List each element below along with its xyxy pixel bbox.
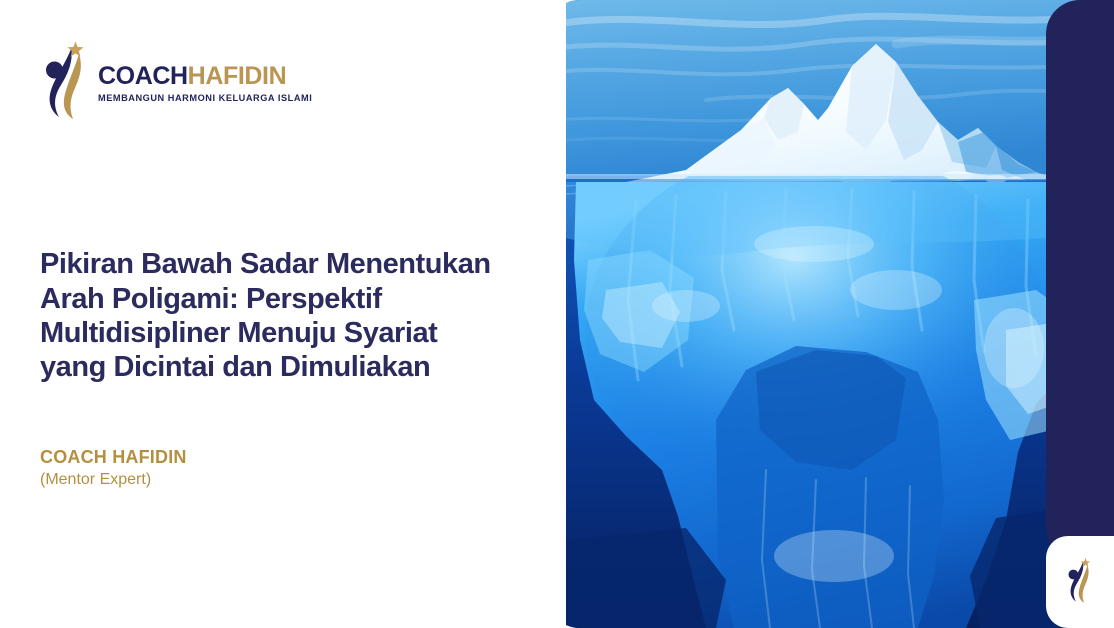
- slide-headline: Pikiran Bawah Sadar Menentukan Arah Poli…: [40, 247, 510, 384]
- corner-logo-card[interactable]: [1046, 536, 1114, 628]
- iceberg-photo: [566, 0, 1114, 628]
- brand-wordmark: COACHHAFIDIN: [98, 63, 312, 89]
- iceberg-submerged-mass: [566, 145, 1114, 628]
- coach-hafidin-person-star-logo-icon: [1065, 557, 1095, 607]
- byline: COACH HAFIDIN (Mentor Expert): [40, 446, 510, 490]
- coach-hafidin-person-star-logo-icon: [40, 40, 92, 126]
- iceberg-photo-panel: [546, 0, 1114, 628]
- content-column: COACHHAFIDIN MEMBANGUN HARMONI KELUARGA …: [0, 0, 566, 628]
- brand-wordmark-primary: COACH: [98, 62, 188, 90]
- slide-canvas: COACHHAFIDIN MEMBANGUN HARMONI KELUARGA …: [0, 0, 1114, 628]
- byline-author-name: COACH HAFIDIN: [40, 446, 510, 469]
- right-accent-panel: [1046, 0, 1114, 561]
- brand-logo[interactable]: COACHHAFIDIN MEMBANGUN HARMONI KELUARGA …: [40, 40, 312, 126]
- iceberg-photo-illustration: [566, 0, 1114, 628]
- brand-wordmark-secondary: HAFIDIN: [188, 62, 287, 90]
- brand-text-block: COACHHAFIDIN MEMBANGUN HARMONI KELUARGA …: [98, 63, 312, 102]
- byline-author-role: (Mentor Expert): [40, 470, 510, 491]
- brand-tagline: MEMBANGUN HARMONI KELUARGA ISLAMI: [98, 93, 312, 103]
